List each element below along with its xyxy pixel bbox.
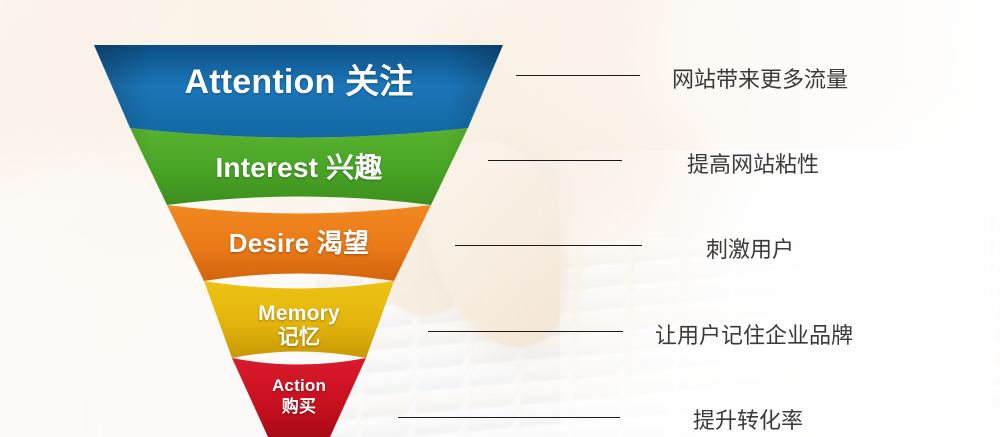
leader-line-attention [516,75,640,76]
benefit-text-desire: 刺激用户 [706,232,794,264]
leader-line-action [398,417,620,418]
funnel-infographic: Attention 关注 Interest 兴趣 Desire 渴望 Memor… [0,0,1000,437]
benefit-text-action: 提升转化率 [693,403,803,435]
benefit-text-interest: 提高网站粘性 [687,147,819,179]
benefit-text-memory: 让用户记住企业品牌 [655,318,853,350]
leader-line-desire [455,245,642,246]
benefit-text-attention: 网站带来更多流量 [672,62,848,94]
leader-line-memory [428,331,623,332]
funnel-shape [0,0,1000,437]
leader-line-interest [488,160,622,161]
funnel-edge-shading [94,45,503,437]
